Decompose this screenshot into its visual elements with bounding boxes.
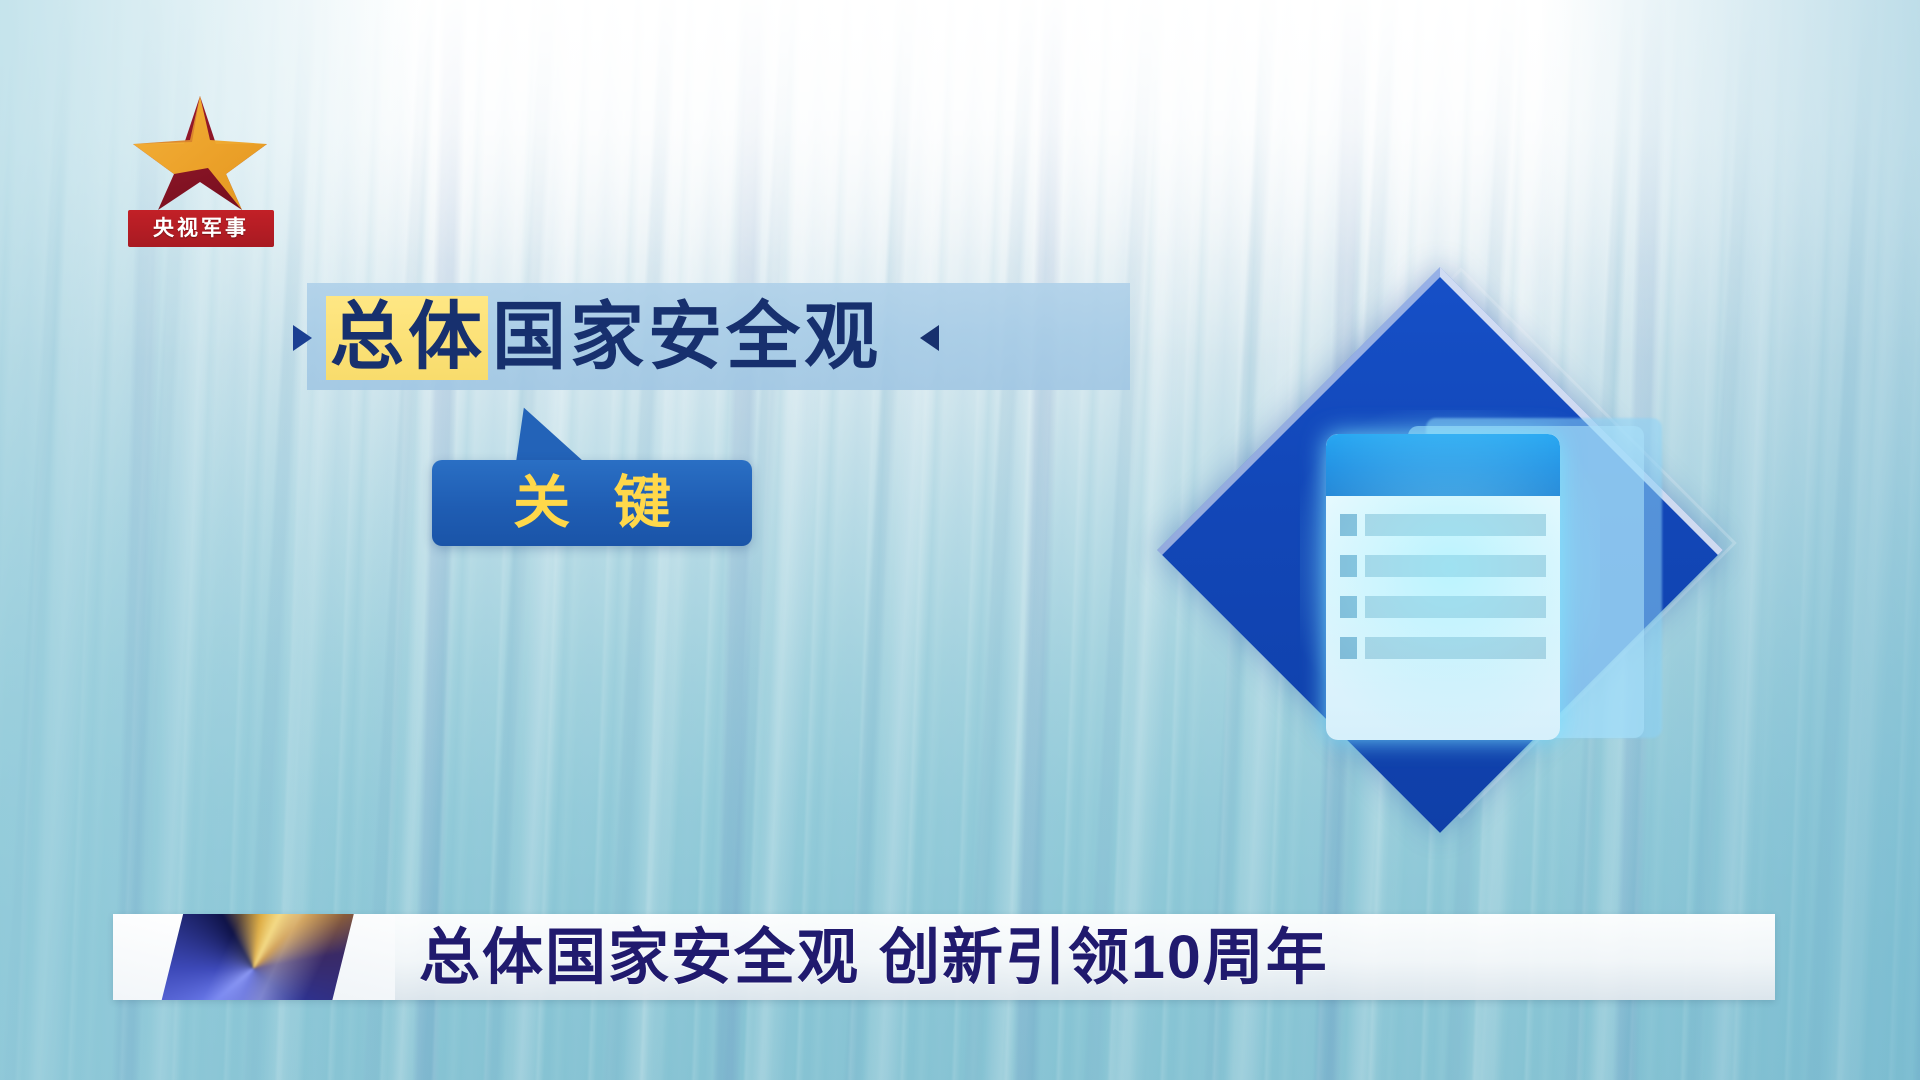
document-row bbox=[1340, 637, 1546, 659]
row-marker-icon bbox=[1340, 514, 1357, 536]
triangle-right-icon bbox=[293, 325, 312, 351]
channel-badge-label: 央视军事 bbox=[153, 218, 249, 239]
globe-sphere-icon bbox=[113, 914, 395, 1000]
diamond-graphic bbox=[1180, 290, 1740, 850]
row-marker-icon bbox=[1340, 555, 1357, 577]
headline-highlight: 总体 bbox=[326, 296, 488, 380]
row-marker-icon bbox=[1340, 637, 1357, 659]
keyword-callout: 关 键 bbox=[432, 460, 752, 546]
lower-third-title: 总体国家安全观 创新引领10周年 bbox=[395, 927, 1329, 988]
cctv-star-icon bbox=[130, 92, 270, 212]
headline-row: 总体国家安全观 bbox=[285, 288, 1205, 388]
row-line bbox=[1365, 596, 1546, 618]
row-line bbox=[1365, 555, 1546, 577]
document-list-icon bbox=[1326, 434, 1560, 740]
document-row bbox=[1340, 514, 1546, 536]
headline-text: 总体国家安全观 bbox=[326, 296, 884, 380]
channel-badge: 央视军事 bbox=[128, 210, 274, 247]
channel-logo: 央视军事 bbox=[118, 92, 283, 252]
row-line bbox=[1365, 637, 1546, 659]
headline-rest: 国家安全观 bbox=[488, 296, 884, 380]
row-marker-icon bbox=[1340, 596, 1357, 618]
document-row bbox=[1340, 596, 1546, 618]
keyword-callout-label: 关 键 bbox=[499, 475, 685, 532]
document-row bbox=[1340, 555, 1546, 577]
broadcast-frame: 央视军事 总体国家安全观 关 键 bbox=[0, 0, 1920, 1080]
lower-third-banner: 总体国家安全观 创新引领10周年 bbox=[113, 914, 1775, 1000]
row-line bbox=[1365, 514, 1546, 536]
triangle-left-icon bbox=[920, 325, 939, 351]
document-rows bbox=[1326, 496, 1560, 659]
document-header bbox=[1326, 434, 1560, 496]
